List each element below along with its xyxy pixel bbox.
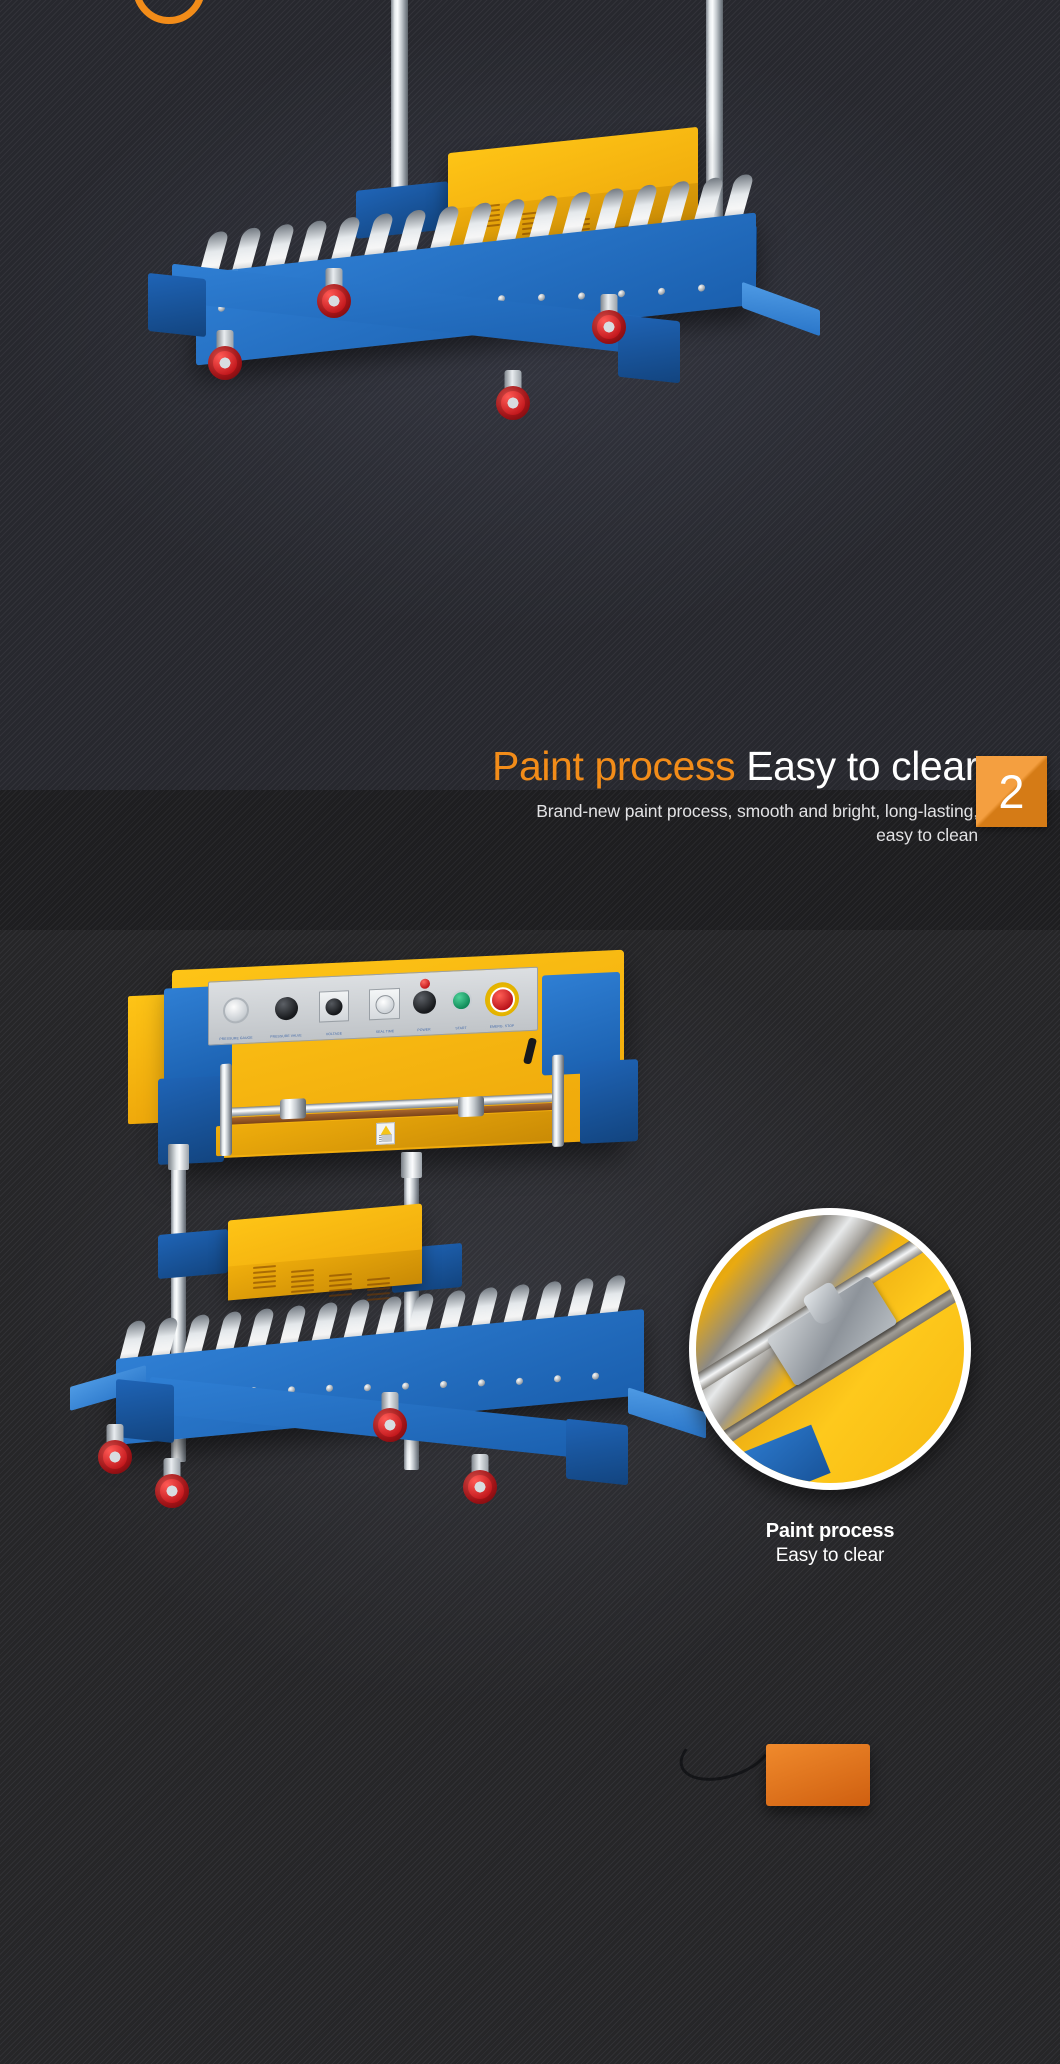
frame-corner-right-top [618, 315, 680, 384]
pedal-guard-shell [766, 1744, 870, 1806]
label-start: START [438, 1025, 484, 1031]
caster-rear-left-top [318, 268, 350, 314]
caster-left-front-bottom [96, 1424, 134, 1478]
height-collar-right[interactable] [401, 1152, 422, 1178]
base-vent-slots-2 [291, 1269, 314, 1296]
foot-pedal[interactable] [752, 1730, 882, 1826]
warning-label [376, 1122, 395, 1145]
closeup-inset-paint-finish [689, 1208, 971, 1490]
subtitle-line-1: Brand-new paint process, smooth and brig… [0, 799, 978, 824]
emergency-stop-button[interactable] [485, 982, 519, 1018]
product-detail-page: Paint process Easy to clear Brand-new pa… [0, 0, 1060, 2064]
base-vent-slots-3 [329, 1273, 352, 1300]
height-collar-left[interactable] [168, 1144, 189, 1170]
caster-front-left-top [205, 330, 245, 386]
caster-front-right-top [493, 370, 533, 426]
section-headline: Paint process Easy to clear Brand-new pa… [0, 744, 1060, 848]
label-pressure-valve: PRESSURE VALVE [263, 1033, 309, 1039]
label-emergency-stop: EMERG. STOP [479, 1023, 525, 1029]
guide-rail-left [220, 1064, 232, 1157]
frame-corner-right-bottom [566, 1419, 628, 1486]
sealing-head-assembly: PRESSURE GAUGE PRESSURE VALVE VOLTAGE SE… [128, 948, 668, 1163]
power-indicator-lamp [420, 979, 430, 989]
base-vent-slots-1 [253, 1265, 276, 1292]
caption-line-2: Easy to clear [689, 1545, 971, 1567]
frame-corner-left-top [148, 273, 206, 337]
outrigger-right-top [742, 282, 820, 336]
product-photo-bottom: PRESSURE GAUGE PRESSURE VALVE VOLTAGE SE… [0, 930, 1060, 2064]
jaw-latch-right[interactable] [458, 1096, 484, 1117]
chrome-post-left [391, 0, 408, 188]
subtitle-line-2: easy to clean [0, 823, 978, 848]
section-number-badge: 2 [976, 756, 1047, 827]
voltage-selector-switch[interactable] [319, 990, 349, 1022]
caption-line-1: Paint process [689, 1520, 971, 1543]
product-photo-top [0, 0, 1060, 600]
pressure-gauge [223, 997, 249, 1024]
headline-title: Paint process Easy to clear [0, 744, 978, 790]
headline-accent-text: Paint process [492, 743, 735, 789]
outrigger-right-bottom [628, 1387, 706, 1438]
headline-plain-text: Easy to clear [746, 743, 978, 789]
caster-right-front-bottom [460, 1454, 500, 1510]
guide-rail-right [552, 1054, 564, 1147]
pressure-valve-knob[interactable] [275, 997, 298, 1021]
pedal-cable [672, 1712, 779, 1791]
end-cap-right-lower [580, 1059, 638, 1144]
column-base-left [158, 1229, 228, 1279]
caster-left-rear-bottom [152, 1458, 192, 1514]
caster-rear-right-top [591, 294, 627, 344]
seal-time-timer[interactable] [369, 988, 400, 1020]
jaw-latch-left[interactable] [280, 1098, 306, 1119]
closeup-inset-caption: Paint process Easy to clear [689, 1520, 971, 1567]
headline-subtitle: Brand-new paint process, smooth and brig… [0, 799, 978, 848]
start-button[interactable] [451, 990, 472, 1012]
power-knob[interactable] [413, 990, 436, 1014]
caster-right-rear-bottom [374, 1392, 406, 1438]
label-pressure-gauge: PRESSURE GAUGE [213, 1035, 259, 1041]
label-voltage: VOLTAGE [311, 1031, 357, 1037]
